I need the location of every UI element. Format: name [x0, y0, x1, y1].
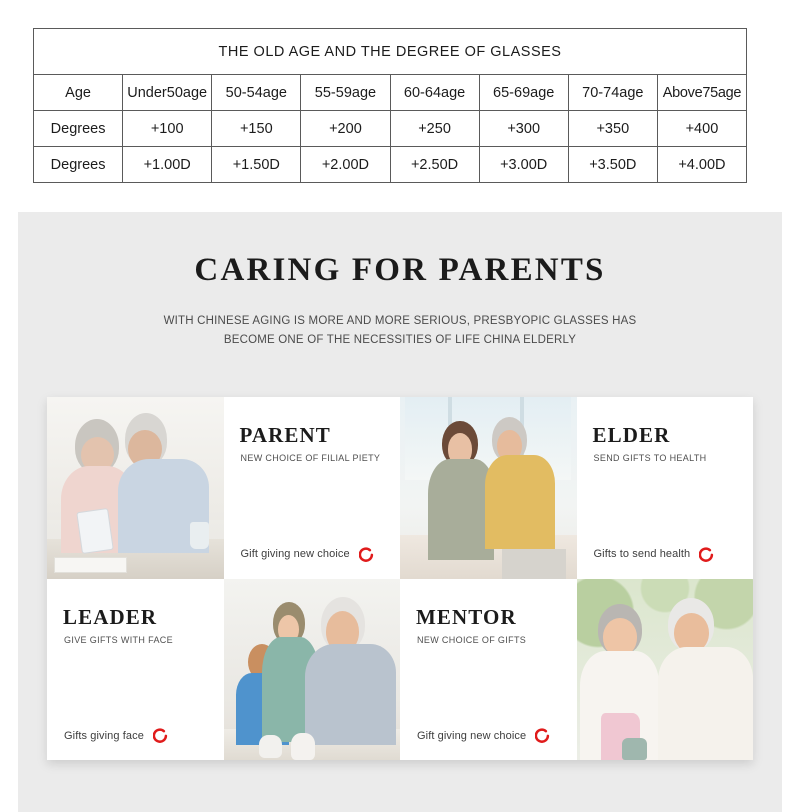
card-elder-footer[interactable]: Gifts to send health	[594, 547, 715, 562]
red-ring-icon	[535, 728, 550, 743]
page-title: CARING FOR PARENTS	[18, 252, 782, 289]
card-leader[interactable]: LEADER GIVE GIFTS WITH FACE Gifts giving…	[47, 579, 400, 761]
cell-degrees-2-1: +1.00D	[123, 147, 212, 183]
cell-degrees-2-7: +4.00D	[657, 147, 746, 183]
page-subtitle-line1: WITH CHINESE AGING IS MORE AND MORE SERI…	[18, 312, 782, 331]
table-header-cell-age: Age	[34, 75, 123, 111]
card-elder-footer-text: Gifts to send health	[594, 548, 691, 560]
table-title-row: THE OLD AGE AND THE DEGREE OF GLASSES	[34, 29, 747, 75]
card-leader-text: LEADER GIVE GIFTS WITH FACE Gifts giving…	[47, 579, 224, 761]
card-parent[interactable]: PARENT NEW CHOICE OF FILIAL PIETY Gift g…	[47, 397, 400, 579]
page-subtitle-line2: BECOME ONE OF THE NECESSITIES OF LIFE CH…	[18, 331, 782, 350]
card-mentor-footer[interactable]: Gift giving new choice	[417, 728, 550, 743]
spec-table-section: THE OLD AGE AND THE DEGREE OF GLASSES Ag…	[33, 28, 747, 183]
card-leader-subtitle: GIVE GIFTS WITH FACE	[64, 635, 173, 645]
cell-degrees-1-1: +100	[123, 111, 212, 147]
table-title: THE OLD AGE AND THE DEGREE OF GLASSES	[34, 29, 747, 75]
table-row: Degrees +100 +150 +200 +250 +300 +350 +4…	[34, 111, 747, 147]
card-parent-footer[interactable]: Gift giving new choice	[241, 547, 374, 562]
card-parent-subtitle: NEW CHOICE OF FILIAL PIETY	[241, 453, 381, 463]
card-grid: PARENT NEW CHOICE OF FILIAL PIETY Gift g…	[47, 397, 753, 760]
card-parent-title: PARENT	[240, 423, 331, 448]
card-mentor-photo	[577, 579, 754, 761]
table-header-cell-above75: Above75age	[657, 75, 746, 111]
red-ring-icon	[153, 728, 168, 743]
table-header-cell-65-69: 65-69age	[479, 75, 568, 111]
row-label-degrees-2: Degrees	[34, 147, 123, 183]
red-ring-icon	[359, 547, 374, 562]
table-header-cell-55-59: 55-59age	[301, 75, 390, 111]
card-parent-footer-text: Gift giving new choice	[241, 548, 350, 560]
row-label-degrees-1: Degrees	[34, 111, 123, 147]
card-elder-photo	[400, 397, 577, 579]
table-header-cell-70-74: 70-74age	[568, 75, 657, 111]
cell-degrees-1-4: +250	[390, 111, 479, 147]
card-elder-text: ELDER SEND GIFTS TO HEALTH Gifts to send…	[577, 397, 754, 579]
card-mentor[interactable]: MENTOR NEW CHOICE OF GIFTS Gift giving n…	[400, 579, 753, 761]
card-elder[interactable]: ELDER SEND GIFTS TO HEALTH Gifts to send…	[400, 397, 753, 579]
card-mentor-footer-text: Gift giving new choice	[417, 730, 526, 742]
card-mentor-subtitle: NEW CHOICE OF GIFTS	[417, 635, 526, 645]
old-age-degree-table: THE OLD AGE AND THE DEGREE OF GLASSES Ag…	[33, 28, 747, 183]
cell-degrees-2-2: +1.50D	[212, 147, 301, 183]
card-elder-subtitle: SEND GIFTS TO HEALTH	[594, 453, 707, 463]
cell-degrees-1-2: +150	[212, 111, 301, 147]
card-parent-photo	[47, 397, 224, 579]
cell-degrees-2-3: +2.00D	[301, 147, 390, 183]
table-header-cell-50-54: 50-54age	[212, 75, 301, 111]
table-header-cell-under50: Under50age	[123, 75, 212, 111]
card-leader-footer[interactable]: Gifts giving face	[64, 728, 168, 743]
cell-degrees-2-6: +3.50D	[568, 147, 657, 183]
card-elder-title: ELDER	[593, 423, 671, 448]
card-leader-photo	[224, 579, 401, 761]
cell-degrees-2-5: +3.00D	[479, 147, 568, 183]
cell-degrees-2-4: +2.50D	[390, 147, 479, 183]
card-mentor-title: MENTOR	[416, 605, 517, 630]
card-leader-footer-text: Gifts giving face	[64, 730, 144, 742]
table-header-cell-60-64: 60-64age	[390, 75, 479, 111]
cell-degrees-1-5: +300	[479, 111, 568, 147]
cell-degrees-1-3: +200	[301, 111, 390, 147]
card-parent-text: PARENT NEW CHOICE OF FILIAL PIETY Gift g…	[224, 397, 401, 579]
page-subtitle: WITH CHINESE AGING IS MORE AND MORE SERI…	[18, 312, 782, 350]
cell-degrees-1-7: +400	[657, 111, 746, 147]
caring-banner-panel: CARING FOR PARENTS WITH CHINESE AGING IS…	[18, 212, 782, 812]
card-mentor-text: MENTOR NEW CHOICE OF GIFTS Gift giving n…	[400, 579, 577, 761]
table-row: Degrees +1.00D +1.50D +2.00D +2.50D +3.0…	[34, 147, 747, 183]
card-leader-title: LEADER	[63, 605, 157, 630]
table-header-row: Age Under50age 50-54age 55-59age 60-64ag…	[34, 75, 747, 111]
cell-degrees-1-6: +350	[568, 111, 657, 147]
red-ring-icon	[699, 547, 714, 562]
